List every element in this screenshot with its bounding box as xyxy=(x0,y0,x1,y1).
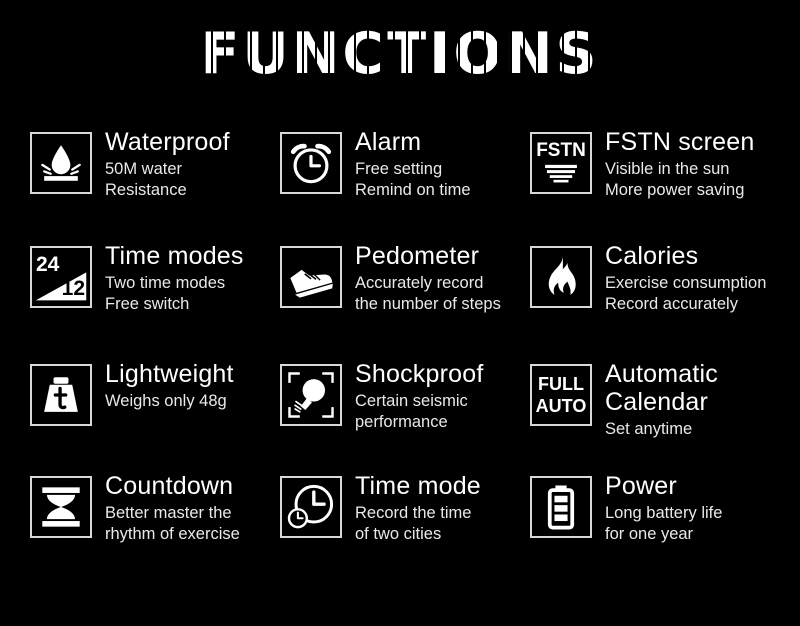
feature-description: Exercise consumption Record accurately xyxy=(605,273,766,315)
feature-text: Power Long battery life for one year xyxy=(605,472,722,545)
feature-title: Automatic Calendar xyxy=(605,360,718,416)
functions-infographic: FUNCTIONS Waterproof 50M water Resistanc… xyxy=(0,0,800,626)
feature-description: 50M water Resistance xyxy=(105,159,230,201)
dual-clock-icon xyxy=(280,476,342,538)
feature-card-automatic-calendar: FULL AUTO Automatic Calendar Set anytime xyxy=(530,360,782,472)
page-title: FUNCTIONS xyxy=(200,26,599,83)
feature-description: Record the time of two cities xyxy=(355,503,481,545)
feature-text: Waterproof 50M water Resistance xyxy=(105,128,230,201)
feature-text: Countdown Better master the rhythm of ex… xyxy=(105,472,240,545)
feature-text: FSTN screen Visible in the sun More powe… xyxy=(605,128,754,201)
feature-title: Shockproof xyxy=(355,360,483,388)
feature-description: Weighs only 48g xyxy=(105,391,234,412)
auto-label: AUTO xyxy=(532,396,590,417)
time-modes-24-12-icon: 24 12 xyxy=(30,246,92,308)
feature-title: Pedometer xyxy=(355,242,501,270)
feature-text: Time mode Record the time of two cities xyxy=(355,472,481,545)
feature-card-pedometer: Pedometer Accurately record the number o… xyxy=(280,242,530,360)
battery-icon xyxy=(530,476,592,538)
water-drop-splash-icon xyxy=(30,132,92,194)
feature-description: Free setting Remind on time xyxy=(355,159,471,201)
sneaker-shoe-icon xyxy=(280,246,342,308)
feature-card-lightweight: Lightweight Weighs only 48g xyxy=(30,360,280,472)
alarm-clock-icon xyxy=(280,132,342,194)
feature-description: Set anytime xyxy=(605,419,718,440)
fstn-screen-icon: FSTN xyxy=(530,132,592,194)
feature-title: FSTN screen xyxy=(605,128,754,156)
feature-text: Automatic Calendar Set anytime xyxy=(605,360,718,440)
feature-title: Waterproof xyxy=(105,128,230,156)
feature-text: Shockproof Certain seismic performance xyxy=(355,360,483,433)
feature-card-fstn-screen: FSTN FSTN screen Visible in the sun More… xyxy=(530,128,782,242)
feature-card-time-mode: Time mode Record the time of two cities xyxy=(280,472,530,582)
feature-title: Time mode xyxy=(355,472,481,500)
hourglass-icon xyxy=(30,476,92,538)
feature-card-time-modes: 24 12 Time modes Two time modes Free swi… xyxy=(30,242,280,360)
feature-title: Countdown xyxy=(105,472,240,500)
feature-text: Lightweight Weighs only 48g xyxy=(105,360,234,412)
feature-text: Pedometer Accurately record the number o… xyxy=(355,242,501,315)
feature-description: Visible in the sun More power saving xyxy=(605,159,754,201)
feature-card-power: Power Long battery life for one year xyxy=(530,472,782,582)
feature-grid: Waterproof 50M water Resistance Alarm Fr… xyxy=(30,128,782,582)
feature-text: Time modes Two time modes Free switch xyxy=(105,242,244,315)
feature-card-alarm: Alarm Free setting Remind on time xyxy=(280,128,530,242)
full-label: FULL xyxy=(532,374,590,395)
feature-description: Better master the rhythm of exercise xyxy=(105,503,240,545)
time-modes-24-label: 24 xyxy=(36,253,59,277)
feature-title: Calories xyxy=(605,242,766,270)
feature-card-shockproof: Shockproof Certain seismic performance xyxy=(280,360,530,472)
feature-text: Alarm Free setting Remind on time xyxy=(355,128,471,201)
feature-description: Two time modes Free switch xyxy=(105,273,244,315)
feature-description: Accurately record the number of steps xyxy=(355,273,501,315)
weight-icon xyxy=(30,364,92,426)
feature-description: Certain seismic performance xyxy=(355,391,483,433)
shock-bulb-bracket-icon xyxy=(280,364,342,426)
feature-title: Power xyxy=(605,472,722,500)
page-title-container: FUNCTIONS xyxy=(0,26,800,83)
full-auto-icon: FULL AUTO xyxy=(530,364,592,426)
feature-description: Long battery life for one year xyxy=(605,503,722,545)
feature-title: Alarm xyxy=(355,128,471,156)
feature-card-waterproof: Waterproof 50M water Resistance xyxy=(30,128,280,242)
feature-title: Lightweight xyxy=(105,360,234,388)
flame-icon xyxy=(530,246,592,308)
time-modes-12-label: 12 xyxy=(62,277,85,301)
feature-card-countdown: Countdown Better master the rhythm of ex… xyxy=(30,472,280,582)
feature-title: Time modes xyxy=(105,242,244,270)
feature-card-calories: Calories Exercise consumption Record acc… xyxy=(530,242,782,360)
feature-text: Calories Exercise consumption Record acc… xyxy=(605,242,766,315)
